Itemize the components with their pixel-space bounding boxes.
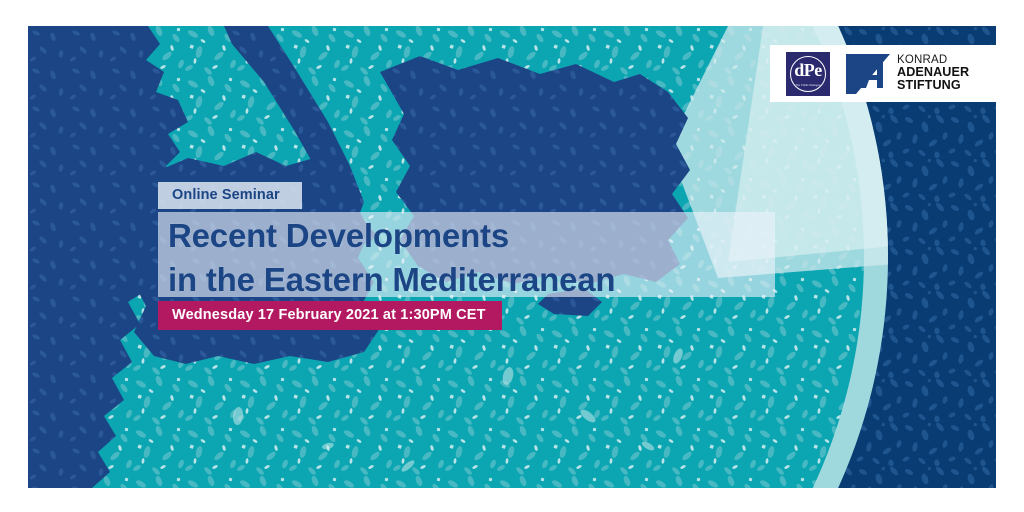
kas-wordmark: KONRAD ADENAUER STIFTUNG	[897, 55, 969, 93]
logo-bar: dPe The Public Dialogue KONRAD ADENAUER …	[770, 45, 996, 102]
kas-line-3: STIFTUNG	[897, 79, 969, 92]
seminar-kicker-badge: Online Seminar	[158, 182, 302, 209]
banner-title-line-1: Recent Developments	[168, 214, 615, 258]
banner-title: Recent Developments in the Eastern Medit…	[168, 214, 615, 302]
konrad-adenauer-stiftung-logo: KONRAD ADENAUER STIFTUNG	[846, 54, 969, 94]
event-date-banner: Wednesday 17 February 2021 at 1:30PM CET	[158, 301, 502, 330]
dpe-logo-subtext: The Public Dialogue	[786, 85, 830, 88]
dpe-logo-mark: dPe	[786, 61, 830, 79]
kas-emblem-icon	[846, 54, 890, 94]
banner-title-line-2: in the Eastern Mediterranean	[168, 258, 615, 302]
event-banner: dPe The Public Dialogue KONRAD ADENAUER …	[0, 0, 1024, 512]
dpe-logo: dPe The Public Dialogue	[786, 52, 830, 96]
